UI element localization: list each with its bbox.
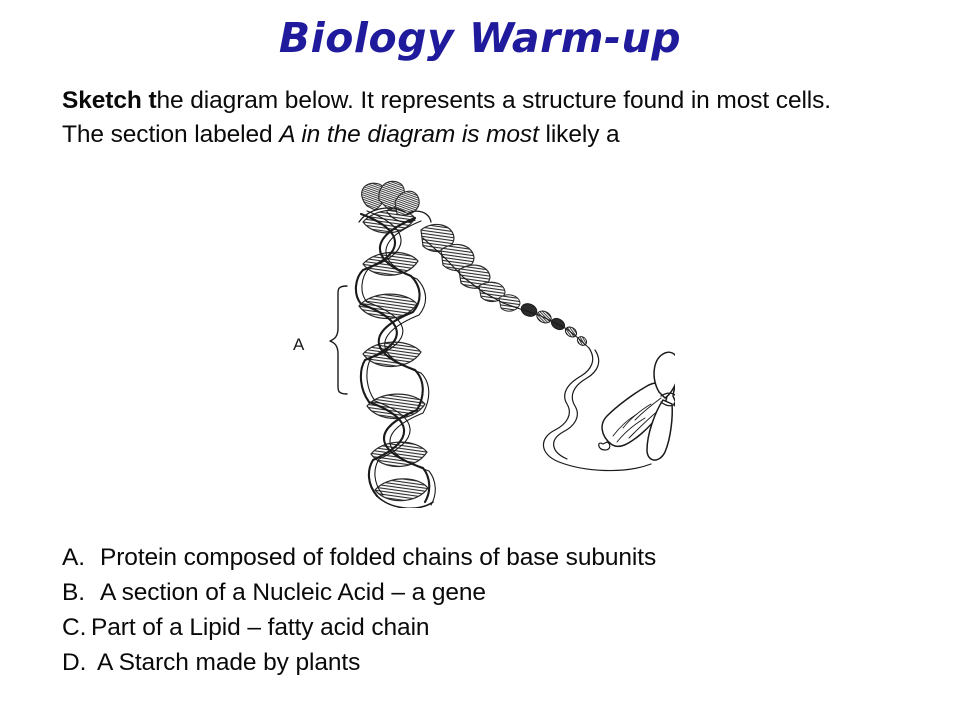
- diagram-svg: A: [255, 178, 675, 508]
- slide-canvas: Biology Warm-up Sketch the diagram below…: [0, 0, 960, 720]
- option-c-letter: C.: [62, 610, 86, 645]
- option-c[interactable]: C.Part of a Lipid – fatty acid chain: [62, 610, 862, 645]
- condensed-chromosome: [599, 352, 675, 460]
- option-b-text: A section of a Nucleic Acid – a gene: [100, 579, 486, 606]
- option-b-letter: B.: [62, 575, 86, 610]
- prompt-bold-lead: Sketch t: [62, 87, 157, 114]
- option-a-letter: A.: [62, 540, 86, 575]
- option-a[interactable]: A.Protein composed of folded chains of b…: [62, 540, 862, 575]
- option-d-text: A Starch made by plants: [97, 649, 360, 676]
- option-d[interactable]: D.A Starch made by plants: [62, 645, 862, 680]
- nucleosome-beads-chromatin-fiber: [421, 224, 589, 348]
- page-title: Biology Warm-up: [0, 14, 960, 62]
- prompt-italic-part: A in the diagram is most: [279, 121, 539, 148]
- option-b[interactable]: B.A section of a Nucleic Acid – a gene: [62, 575, 862, 610]
- diagram-label-a: A: [293, 335, 305, 354]
- answer-options-list: A.Protein composed of folded chains of b…: [62, 540, 862, 680]
- prompt-regular-2: likely a: [539, 121, 620, 148]
- option-c-text: Part of a Lipid – fatty acid chain: [91, 614, 429, 641]
- option-d-letter: D.: [62, 645, 86, 680]
- dna-double-helix: [356, 210, 435, 508]
- question-prompt: Sketch the diagram below. It represents …: [62, 84, 832, 152]
- brace-marker: [330, 286, 347, 394]
- option-a-text: Protein composed of folded chains of bas…: [100, 544, 656, 571]
- dna-chromosome-diagram: A: [255, 178, 675, 508]
